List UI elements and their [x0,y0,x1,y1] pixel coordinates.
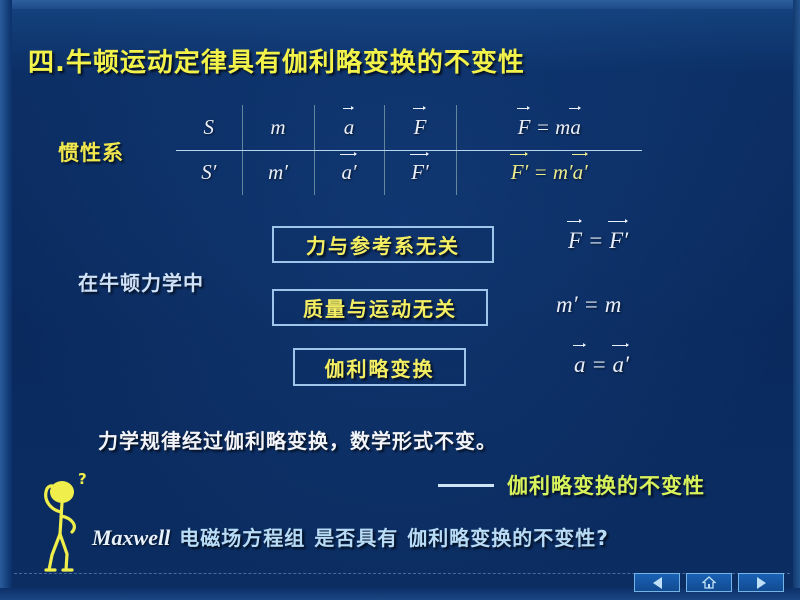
maxwell-question-part: 是否具有 [314,522,398,551]
slide-title: 四.牛顿运动定律具有伽利略变换的不变性 [28,42,525,79]
equals-sign: = [588,228,604,253]
vector-f-lhs: F [518,115,531,140]
thinking-stick-figure: ? [22,470,94,574]
table-row: S m a F F = ma [176,105,642,150]
table-row: S′ m′ a′ F′ F′ = m′a′ [176,150,642,195]
mass-prime-left: m′ [556,292,578,317]
home-icon [702,576,716,589]
statement-box-galileo: 伽利略变换 [293,348,466,386]
vector-a-prime: a′ [341,160,356,185]
equals-sign: = [583,292,599,317]
frame-left-border [0,0,12,600]
statement-text-galileo: 伽利略变换 [325,353,435,382]
equals-sign: = [591,352,607,377]
mass-factor-prime: m′ [553,160,573,184]
newtonian-context-label: 在牛顿力学中 [78,267,204,296]
cell-frame-s: S [176,105,242,150]
statement-box-mass: 质量与运动无关 [272,289,488,326]
statement-box-force: 力与参考系无关 [272,226,494,263]
cell-frame-s-prime: S′ [176,150,242,195]
cell-accel-a-prime: a′ [314,150,384,195]
statement-text-force: 力与参考系无关 [306,230,460,259]
triangle-left-icon [653,577,662,589]
cell-mass-m: m [242,105,314,150]
conclusion-emphasis: 伽利略变换的不变性 [507,470,705,500]
statement-text-mass: 质量与运动无关 [303,293,457,322]
equals-sign-prime: = [533,160,547,184]
vector-a-prime-right: a′ [613,352,630,378]
nav-home-button[interactable] [686,573,732,592]
equation-mass-equality: m′ = m [556,292,621,318]
frame-right-border [793,0,800,600]
frame-top-border [0,0,800,9]
maxwell-subject: 电磁场方程组 [179,522,305,551]
vector-f-prime-lhs: F′ [511,160,528,185]
equals-sign: = [536,115,550,139]
mass-right: m [605,292,622,317]
navigation-bar [634,573,784,592]
equation-force-equality: F = F′ [568,228,628,254]
cell-force-f-prime: F′ [384,150,456,195]
equation-accel-equality: a = a′ [574,352,629,378]
maxwell-property: 伽利略变换的不变性? [407,522,609,551]
vector-a: a [344,115,355,140]
vector-f: F [414,115,427,140]
question-mark-glyph: ? [78,470,87,488]
maxwell-question-row: Maxwell 电磁场方程组 是否具有 伽利略变换的不变性? [92,522,609,551]
nav-forward-button[interactable] [738,573,784,592]
cell-equation-unprimed: F = ma [456,105,642,150]
slide-canvas: 四.牛顿运动定律具有伽利略变换的不变性 惯性系 S m a F F = ma S… [0,0,800,600]
cell-force-f: F [384,105,456,150]
vector-a-rhs: a [570,115,581,140]
vector-f-left: F [568,228,582,254]
cell-mass-m-prime: m′ [242,150,314,195]
conclusion-line: 力学规律经过伽利略变换，数学形式不变。 [98,425,497,454]
maxwell-name: Maxwell [92,525,170,551]
vector-a-prime-rhs: a′ [573,160,588,185]
inertial-frame-table: S m a F F = ma S′ m′ a′ F′ F′ = m′a′ [176,105,642,195]
vector-a-left: a [574,352,586,378]
conclusion-emphasis-row: 伽利略变换的不变性 [438,470,705,500]
triangle-right-icon [757,577,766,589]
inertial-frame-label: 惯性系 [58,137,124,167]
vector-f-prime: F′ [411,160,428,185]
cell-equation-primed: F′ = m′a′ [456,150,642,195]
mass-factor: m [555,115,570,139]
nav-back-button[interactable] [634,573,680,592]
cell-accel-a: a [314,105,384,150]
vector-f-prime-right: F′ [609,228,628,254]
em-dash-rule [438,484,494,487]
